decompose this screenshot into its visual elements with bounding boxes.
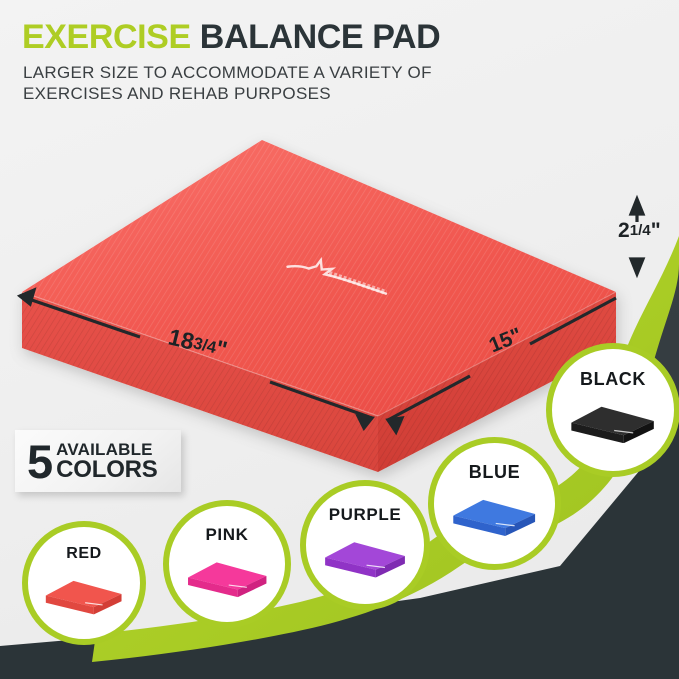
main-product-pad — [22, 140, 616, 472]
color-swatch-red[interactable]: RED — [22, 521, 146, 645]
color-pad-thumbnail — [182, 554, 272, 598]
title-rest: BALANCE PAD — [200, 18, 441, 56]
color-pad-thumbnail — [565, 399, 660, 443]
subtitle-line-2: EXERCISES AND REHAB PURPOSES — [23, 83, 493, 104]
color-swatch-black[interactable]: BLACK — [546, 343, 679, 477]
colors-badge-text: AVAILABLE COLORS — [56, 441, 157, 482]
color-swatch-pink[interactable]: PINK — [163, 500, 291, 628]
color-swatch-label: PINK — [205, 525, 248, 545]
dimension-height-fraction: 1/4 — [630, 222, 651, 239]
page-title: EXERCISE BALANCE PAD — [22, 18, 662, 56]
pad-thumb-pink-icon — [182, 554, 272, 598]
subtitle: LARGER SIZE TO ACCOMMODATE A VARIETY OF … — [23, 62, 493, 104]
color-pad-thumbnail — [319, 534, 411, 578]
subtitle-line-1: LARGER SIZE TO ACCOMMODATE A VARIETY OF — [23, 62, 493, 83]
color-swatch-label: RED — [66, 545, 102, 563]
color-swatch-blue[interactable]: BLUE — [428, 437, 561, 570]
available-colors-badge: 5 AVAILABLE COLORS — [15, 430, 181, 492]
colors-badge-line-1: AVAILABLE — [56, 441, 157, 458]
pad-thumb-black-icon — [565, 399, 660, 443]
header-block: EXERCISE BALANCE PAD LARGER SIZE TO ACCO… — [22, 18, 662, 104]
title-highlight: EXERCISE — [22, 18, 191, 56]
colors-badge-line-2: COLORS — [56, 458, 157, 482]
color-swatch-label: PURPLE — [329, 505, 402, 525]
pad-thumb-red-icon — [40, 572, 127, 616]
colors-count: 5 — [27, 441, 51, 482]
dimension-height-unit: " — [651, 219, 661, 242]
color-swatch-label: BLACK — [580, 369, 646, 390]
color-pad-thumbnail — [447, 492, 541, 536]
color-pad-thumbnail — [40, 572, 127, 616]
dimension-height-value: 2 — [618, 219, 630, 242]
dimension-height-label: 21/4" — [618, 219, 661, 243]
pad-thumb-purple-icon — [319, 534, 411, 578]
pad-thumb-blue-icon — [447, 492, 541, 536]
color-swatch-purple[interactable]: PURPLE — [300, 480, 430, 610]
color-swatch-label: BLUE — [469, 462, 520, 483]
infographic-canvas: EXERCISE BALANCE PAD LARGER SIZE TO ACCO… — [0, 0, 679, 679]
